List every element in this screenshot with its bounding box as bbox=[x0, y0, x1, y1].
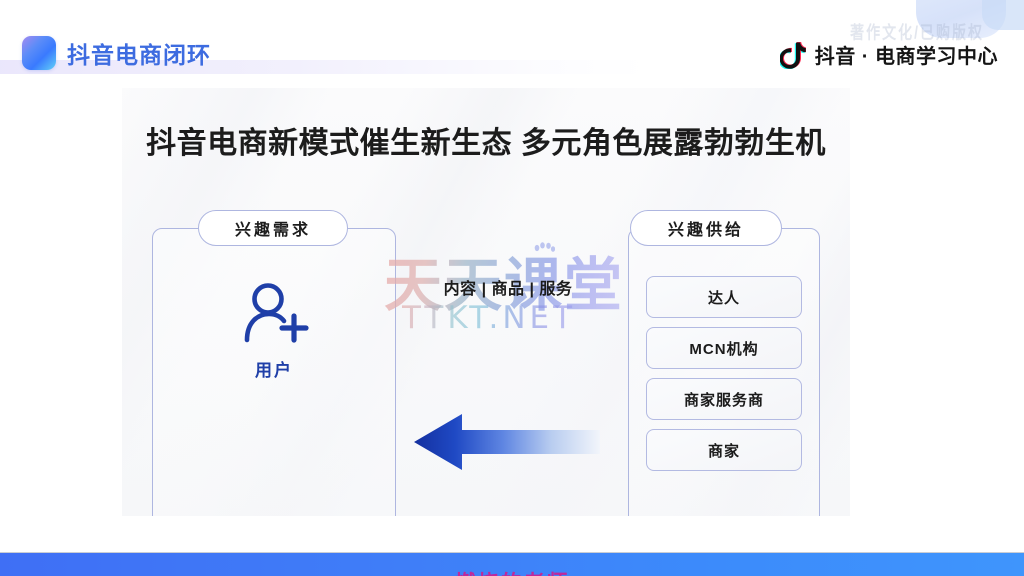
supply-item-list: 达人 MCN机构 商家服务商 商家 bbox=[646, 276, 802, 471]
slide-content-card: 抖音电商新模式催生新生态 多元角色展露勃勃生机 兴趣需求 用户 bbox=[122, 88, 850, 516]
tiktok-note-icon bbox=[780, 41, 806, 69]
watermark-domain-text: TTKT.NET bbox=[402, 300, 576, 336]
slide-viewer: 抖音电商闭环 著作文化/已购版权 抖音 · 电商学习中心 抖音电商新模式催生新生… bbox=[0, 0, 1024, 576]
demand-panel-pill-label: 兴趣需求 bbox=[198, 210, 348, 246]
douyin-learning-center-brand: 抖音 · 电商学习中心 bbox=[780, 40, 998, 69]
supply-list-item: MCN机构 bbox=[646, 327, 802, 369]
bottom-bar-label: 燃烧的老师 bbox=[0, 567, 1024, 576]
user-node-label: 用户 bbox=[255, 356, 293, 381]
supply-list-item: 商家服务商 bbox=[646, 378, 802, 420]
brand-block: 抖音电商闭环 bbox=[22, 36, 211, 70]
paw-print-icon bbox=[533, 242, 555, 256]
page-title: 抖音电商闭环 bbox=[67, 36, 211, 70]
user-node: 用户 bbox=[152, 278, 396, 381]
user-add-icon bbox=[238, 278, 310, 352]
supply-list-item: 商家 bbox=[646, 429, 802, 471]
page-header: 抖音电商闭环 著作文化/已购版权 抖音 · 电商学习中心 bbox=[0, 0, 1024, 88]
bottom-status-bar: 燃烧的老师 bbox=[0, 553, 1024, 576]
gradient-rounded-square-logo-icon bbox=[22, 36, 56, 70]
supply-list-item: 达人 bbox=[646, 276, 802, 318]
flow-overlay-text: 内容 | 商品 | 服务 bbox=[400, 275, 616, 299]
left-block-arrow-icon bbox=[414, 410, 600, 472]
supply-panel-pill-label: 兴趣供给 bbox=[630, 210, 782, 246]
douyin-brand-label: 抖音 · 电商学习中心 bbox=[815, 40, 998, 69]
slide-heading: 抖音电商新模式催生新生态 多元角色展露勃勃生机 bbox=[122, 118, 850, 162]
